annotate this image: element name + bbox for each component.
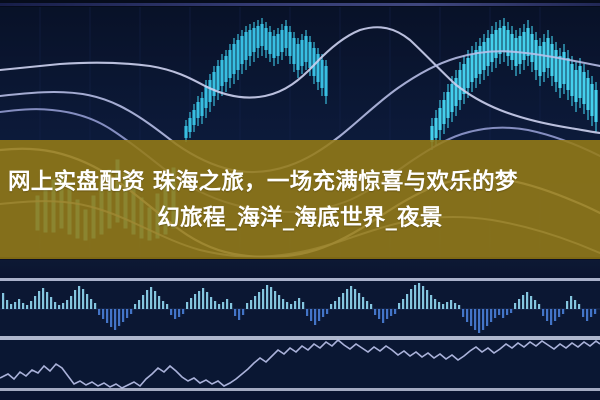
- divider-line-2: [0, 336, 600, 340]
- divider-line-1: [0, 278, 600, 281]
- banner-title-line-2: 幻旅程_海洋_海底世界_夜景: [157, 200, 442, 236]
- top-strip-highlight: [0, 3, 600, 6]
- banner-title-block: 网上实盘配资 珠海之旅，一场充满惊喜与欢乐的梦 幻旅程_海洋_海底世界_夜景: [0, 140, 600, 259]
- divider-line-3: [0, 388, 600, 391]
- banner-image: 网上实盘配资 珠海之旅，一场充满惊喜与欢乐的梦 幻旅程_海洋_海底世界_夜景: [0, 0, 600, 400]
- bottom-edge: [0, 391, 600, 400]
- banner-title-line-1: 网上实盘配资 珠海之旅，一场充满惊喜与欢乐的梦: [6, 164, 594, 200]
- panel-gap: [0, 260, 600, 279]
